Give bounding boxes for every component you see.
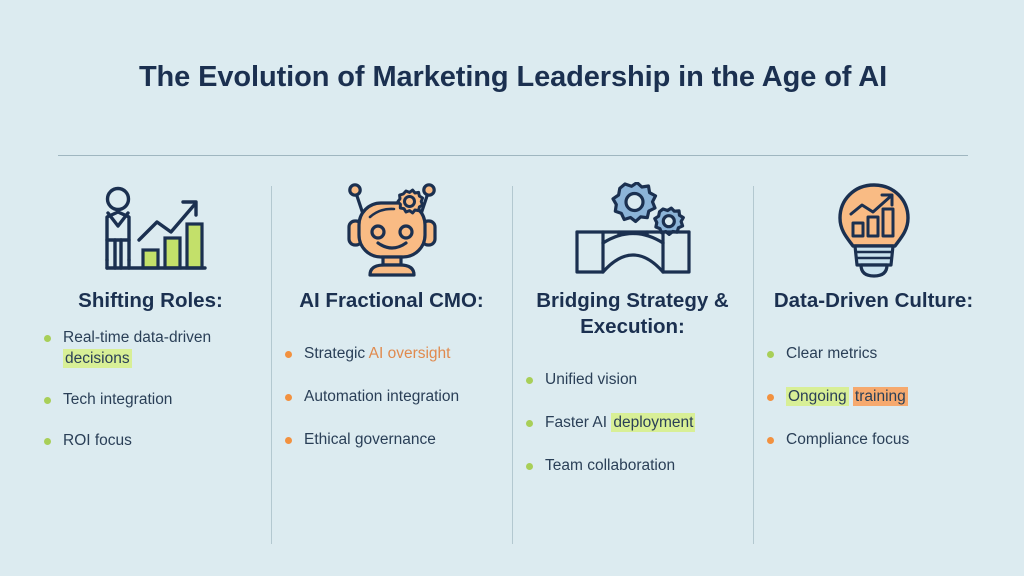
bullet-text: Ethical governance [304, 431, 436, 448]
list-item: ROI focus [44, 431, 257, 452]
bullet-dot-icon [285, 351, 292, 358]
bridge-gears-icon [526, 180, 739, 280]
bullet-list: Clear metrics Ongoing training Complianc… [767, 344, 980, 451]
bullet-dot-icon [285, 437, 292, 444]
list-item: Ethical governance [285, 430, 498, 451]
highlight-green: decisions [63, 349, 132, 368]
bullet-text: Real-time data-driven decisions [63, 329, 211, 368]
bullet-text: Faster AI deployment [545, 413, 695, 432]
bullet-list: Real-time data-driven decisions Tech int… [44, 328, 257, 452]
bullet-list: Strategic AI oversight Automation integr… [285, 344, 498, 451]
list-item: Compliance focus [767, 430, 980, 451]
page-title: The Evolution of Marketing Leadership in… [58, 58, 968, 96]
title-divider [58, 155, 968, 156]
bullet-text: Strategic AI oversight [304, 345, 450, 362]
bullet-text: Automation integration [304, 388, 459, 405]
list-item: Ongoing training [767, 387, 980, 408]
lightbulb-bar-chart-icon [767, 180, 980, 280]
bullet-dot-icon [526, 463, 533, 470]
bullet-list: Unified vision Faster AI deployment Team… [526, 370, 739, 477]
list-item: Team collaboration [526, 456, 739, 477]
highlight-orange: training [853, 387, 908, 406]
column-heading: AI Fractional CMO: [285, 288, 498, 314]
column-heading: Data-Driven Culture: [767, 288, 980, 314]
bullet-text: Clear metrics [786, 345, 877, 362]
person-bar-chart-growth-icon [44, 180, 257, 280]
bullet-dot-icon [285, 394, 292, 401]
column-bridging-strategy: Bridging Strategy & Execution: Unified v… [512, 180, 753, 550]
bullet-dot-icon [767, 437, 774, 444]
title-block: The Evolution of Marketing Leadership in… [58, 58, 968, 96]
list-item: Faster AI deployment [526, 413, 739, 434]
bullet-dot-icon [767, 394, 774, 401]
slide-root: The Evolution of Marketing Leadership in… [0, 0, 1024, 576]
list-item: Clear metrics [767, 344, 980, 365]
highlight-green: deployment [611, 413, 695, 432]
bullet-dot-icon [44, 397, 51, 404]
bullet-text: Compliance focus [786, 431, 909, 448]
list-item: Real-time data-driven decisions [44, 328, 257, 370]
bullet-dot-icon [44, 438, 51, 445]
bullet-text: Team collaboration [545, 457, 675, 474]
orange-text: AI oversight [369, 345, 451, 362]
column-shifting-roles: Shifting Roles: Real-time data-driven de… [30, 180, 271, 550]
column-data-driven-culture: Data-Driven Culture: Clear metrics Ongoi… [753, 180, 994, 550]
bullet-text: Unified vision [545, 371, 637, 388]
column-heading: Shifting Roles: [44, 288, 257, 314]
list-item: Automation integration [285, 387, 498, 408]
bullet-dot-icon [44, 335, 51, 342]
highlight-green: Ongoing [786, 387, 849, 406]
bullet-dot-icon [526, 420, 533, 427]
robot-head-gear-icon [285, 180, 498, 280]
bullet-text: ROI focus [63, 432, 132, 449]
list-item: Tech integration [44, 390, 257, 411]
bullet-dot-icon [526, 377, 533, 384]
column-ai-fractional-cmo: AI Fractional CMO: Strategic AI oversigh… [271, 180, 512, 550]
list-item: Unified vision [526, 370, 739, 391]
bullet-text: Ongoing training [786, 387, 908, 406]
bullet-text: Tech integration [63, 391, 172, 408]
column-heading: Bridging Strategy & Execution: [526, 288, 739, 340]
columns-container: Shifting Roles: Real-time data-driven de… [30, 180, 994, 550]
bullet-dot-icon [767, 351, 774, 358]
list-item: Strategic AI oversight [285, 344, 498, 365]
